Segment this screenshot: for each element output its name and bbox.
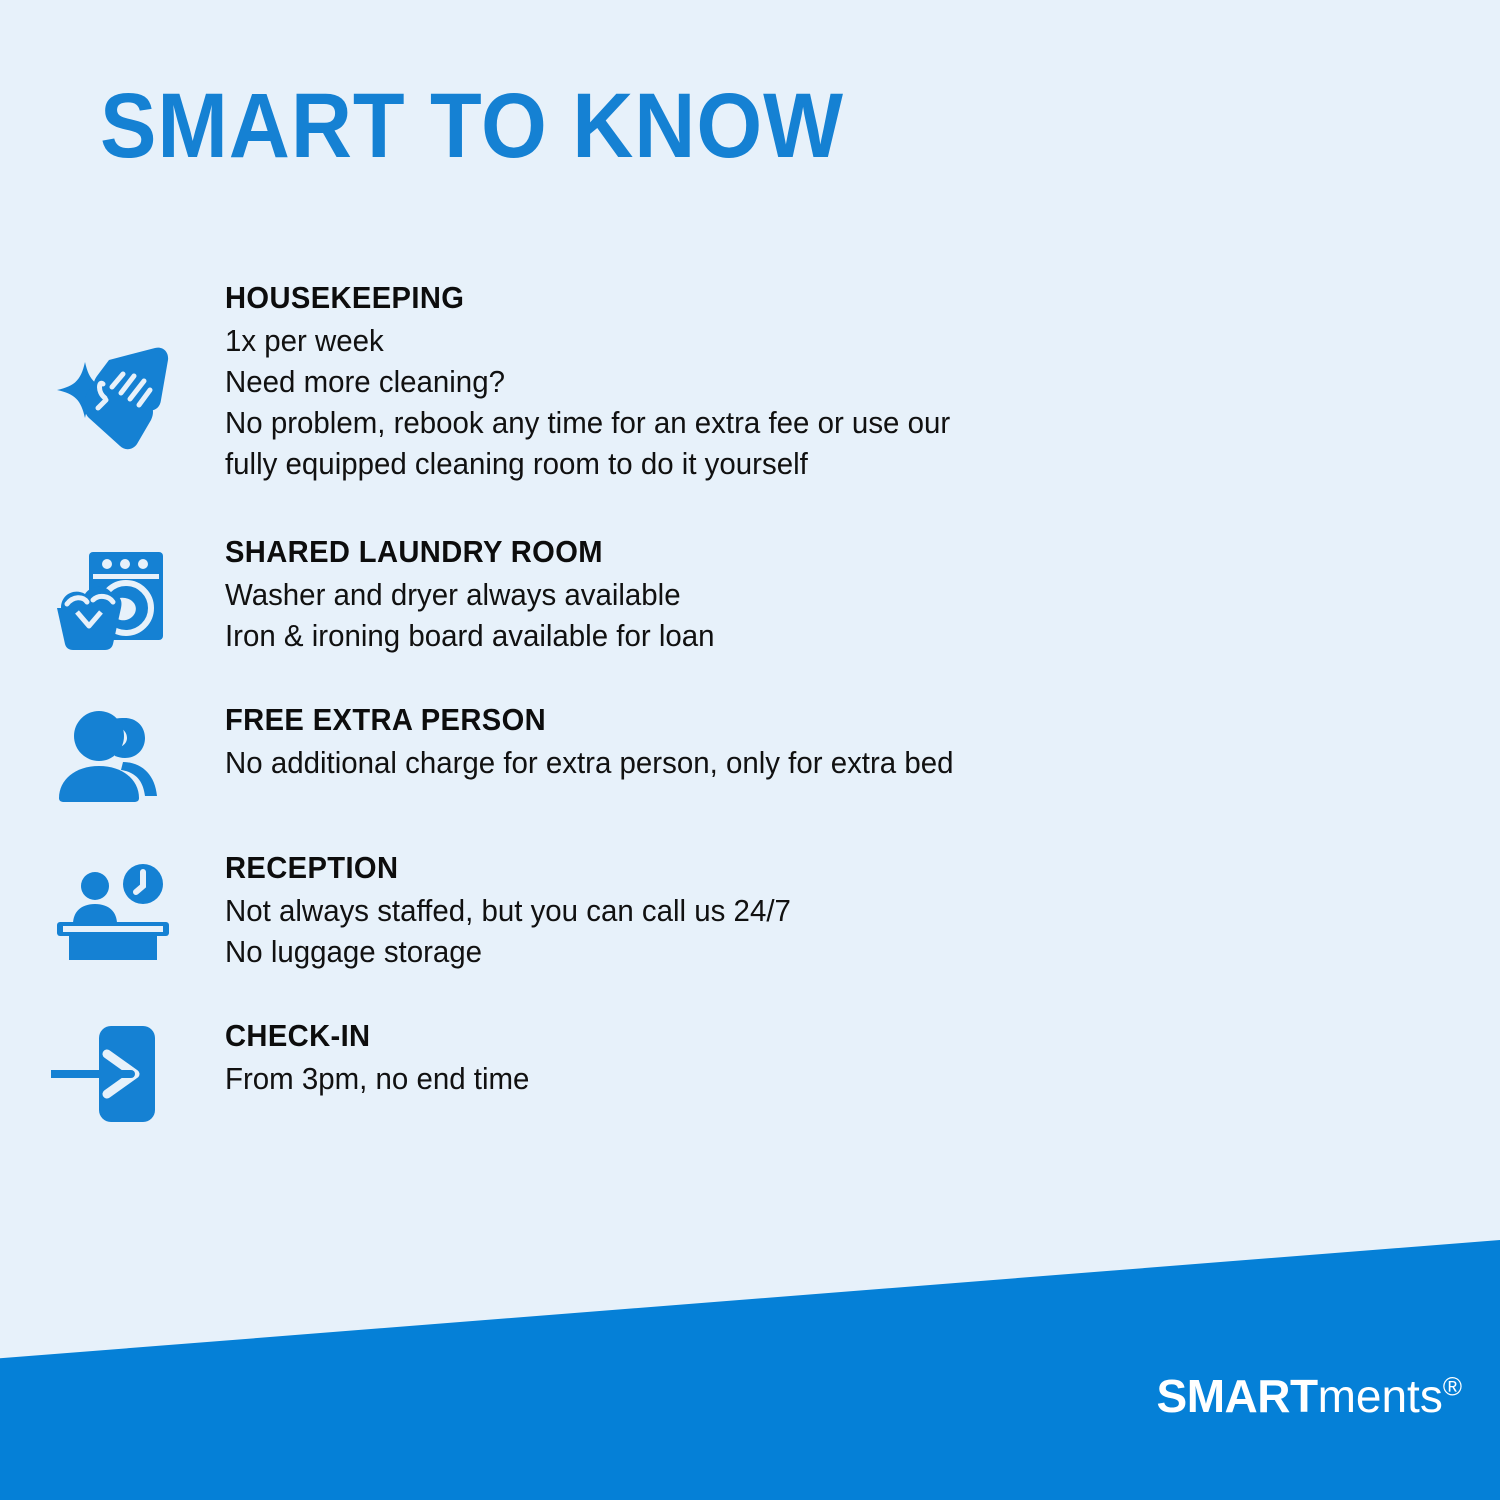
text-cell: CHECK-IN From 3pm, no end time bbox=[225, 1016, 1500, 1099]
page-title: SMART TO KNOW bbox=[100, 76, 844, 176]
text-cell: HOUSEKEEPING 1x per week Need more clean… bbox=[225, 278, 1500, 484]
list-item: RECEPTION Not always staffed, but you ca… bbox=[0, 848, 1500, 972]
section-title: RECEPTION bbox=[225, 848, 1424, 888]
icon-cell bbox=[0, 848, 225, 964]
washing-machine-icon bbox=[53, 544, 173, 652]
poster-canvas: SMART TO KNOW bbox=[0, 0, 1500, 1500]
brand-logo: SMARTments® bbox=[1157, 1370, 1462, 1422]
registered-trademark-icon: ® bbox=[1443, 1372, 1462, 1402]
section-line: Need more cleaning? bbox=[225, 361, 1436, 402]
cleaning-cloth-icon bbox=[49, 340, 177, 452]
section-line: Iron & ironing board available for loan bbox=[225, 615, 1436, 656]
door-enter-icon bbox=[51, 1020, 175, 1128]
section-title: HOUSEKEEPING bbox=[225, 278, 1424, 318]
section-line: No problem, rebook any time for an extra… bbox=[225, 402, 1436, 443]
text-cell: SHARED LAUNDRY ROOM Washer and dryer alw… bbox=[225, 532, 1500, 656]
section-line: From 3pm, no end time bbox=[225, 1058, 1436, 1099]
text-cell: FREE EXTRA PERSON No additional charge f… bbox=[225, 700, 1500, 783]
section-title: SHARED LAUNDRY ROOM bbox=[225, 532, 1424, 572]
list-item: CHECK-IN From 3pm, no end time bbox=[0, 1016, 1500, 1128]
section-title: CHECK-IN bbox=[225, 1016, 1424, 1056]
icon-cell bbox=[0, 700, 225, 806]
info-list: HOUSEKEEPING 1x per week Need more clean… bbox=[0, 278, 1500, 1164]
icon-cell bbox=[0, 278, 225, 452]
section-line: No luggage storage bbox=[225, 931, 1436, 972]
list-item: HOUSEKEEPING 1x per week Need more clean… bbox=[0, 278, 1500, 484]
two-people-icon bbox=[57, 706, 169, 806]
reception-desk-icon bbox=[51, 860, 175, 964]
brand-logo-bold: SMART bbox=[1157, 1370, 1318, 1422]
section-line: No additional charge for extra person, o… bbox=[225, 742, 1436, 783]
text-cell: RECEPTION Not always staffed, but you ca… bbox=[225, 848, 1500, 972]
icon-cell bbox=[0, 532, 225, 652]
icon-cell bbox=[0, 1016, 225, 1128]
section-title: FREE EXTRA PERSON bbox=[225, 700, 1424, 740]
list-item: SHARED LAUNDRY ROOM Washer and dryer alw… bbox=[0, 532, 1500, 656]
section-line: Not always staffed, but you can call us … bbox=[225, 890, 1436, 931]
section-line: Washer and dryer always available bbox=[225, 574, 1436, 615]
brand-logo-light: ments bbox=[1318, 1370, 1443, 1422]
section-line: fully equipped cleaning room to do it yo… bbox=[225, 443, 1436, 484]
section-line: 1x per week bbox=[225, 320, 1436, 361]
list-item: FREE EXTRA PERSON No additional charge f… bbox=[0, 700, 1500, 806]
